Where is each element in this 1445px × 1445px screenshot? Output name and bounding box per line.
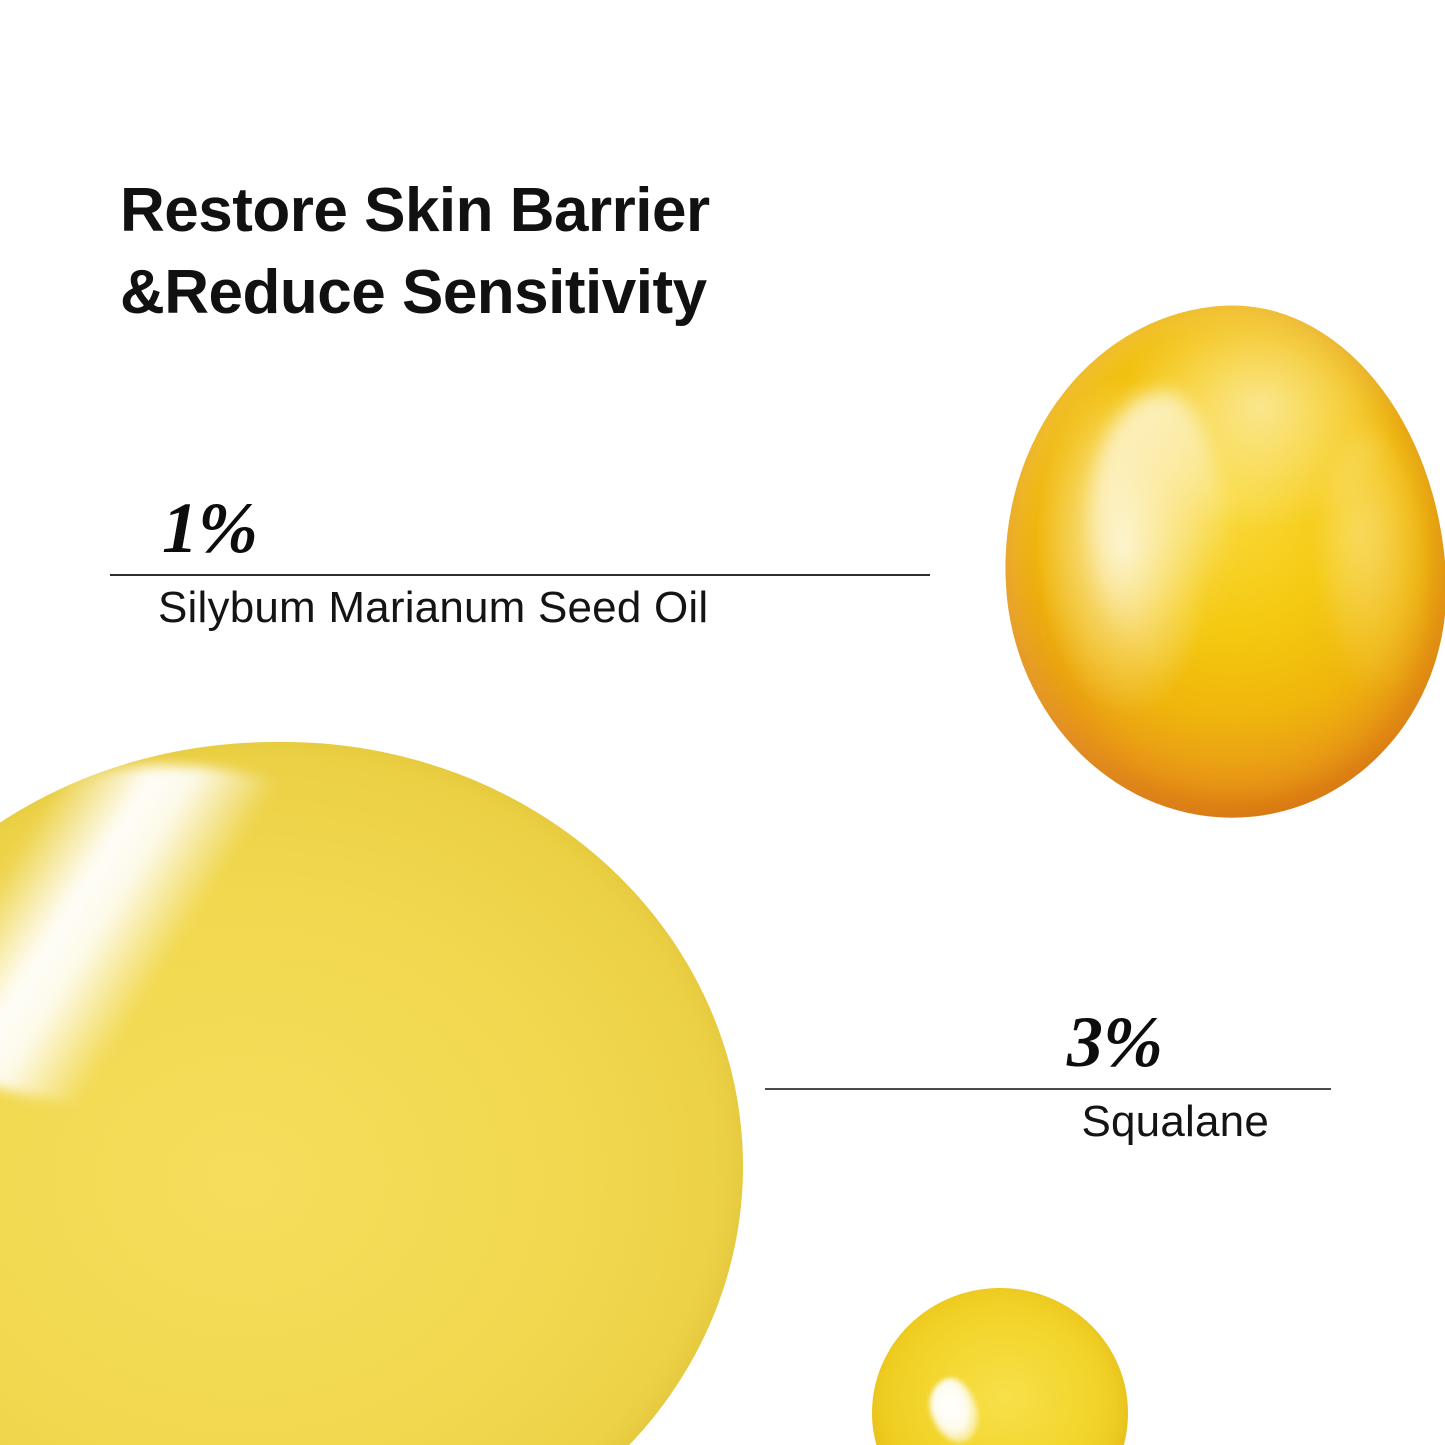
blob-highlight-icon [0, 740, 425, 1130]
page-title: Restore Skin Barrier &Reduce Sensitivity [120, 170, 940, 335]
ingredient-percentage: 3% [765, 1006, 1331, 1078]
ingredient-percentage: 1% [110, 492, 930, 564]
ingredient-callout-2: 3% Squalane [765, 1006, 1331, 1148]
small-yellow-oil-droplet-icon [872, 1288, 1128, 1445]
ingredient-divider-rule [110, 574, 930, 576]
droplet-specular-highlight-icon [922, 1372, 986, 1445]
ingredient-callout-1: 1% Silybum Marianum Seed Oil [110, 492, 930, 634]
ingredient-name: Silybum Marianum Seed Oil [110, 582, 930, 634]
product-ingredient-graphic: Restore Skin Barrier &Reduce Sensitivity… [0, 0, 1445, 1445]
ingredient-divider-rule [765, 1088, 1331, 1090]
pale-yellow-oil-blob-icon [0, 742, 743, 1445]
amber-oil-droplet-icon [992, 295, 1445, 829]
ingredient-name: Squalane [765, 1096, 1331, 1148]
